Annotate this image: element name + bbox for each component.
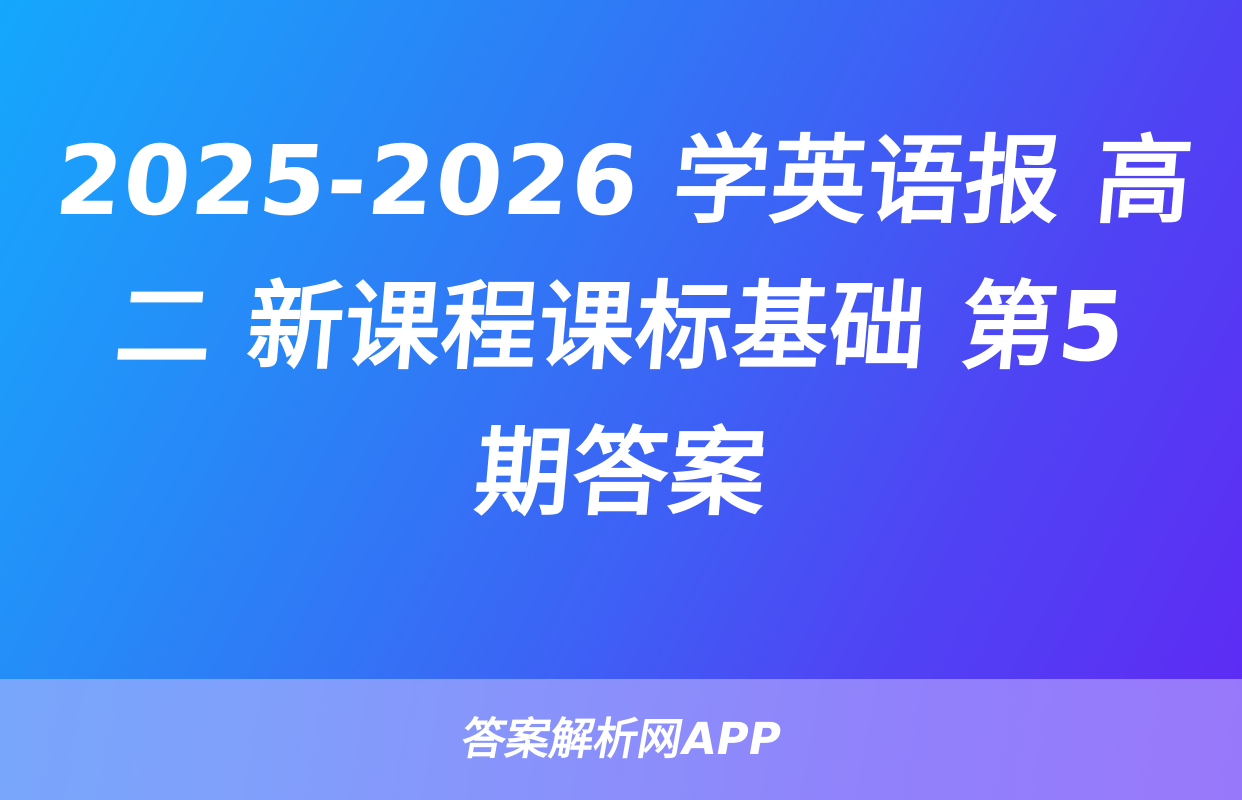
footer-brand-band: 答案解析网APP (0, 679, 1242, 800)
title-line-3: 期答案 (50, 400, 1193, 546)
title-line-1: 2025-2026 学英语报 高 (50, 108, 1193, 254)
title-block: 2025-2026 学英语报 高 二 新课程课标基础 第5 期答案 (0, 0, 1242, 679)
app-brand-label: 答案解析网APP (458, 718, 784, 762)
title-line-2: 二 新课程课标基础 第5 (50, 254, 1193, 400)
answer-cover-poster: 2025-2026 学英语报 高 二 新课程课标基础 第5 期答案 答案解析网A… (0, 0, 1242, 800)
